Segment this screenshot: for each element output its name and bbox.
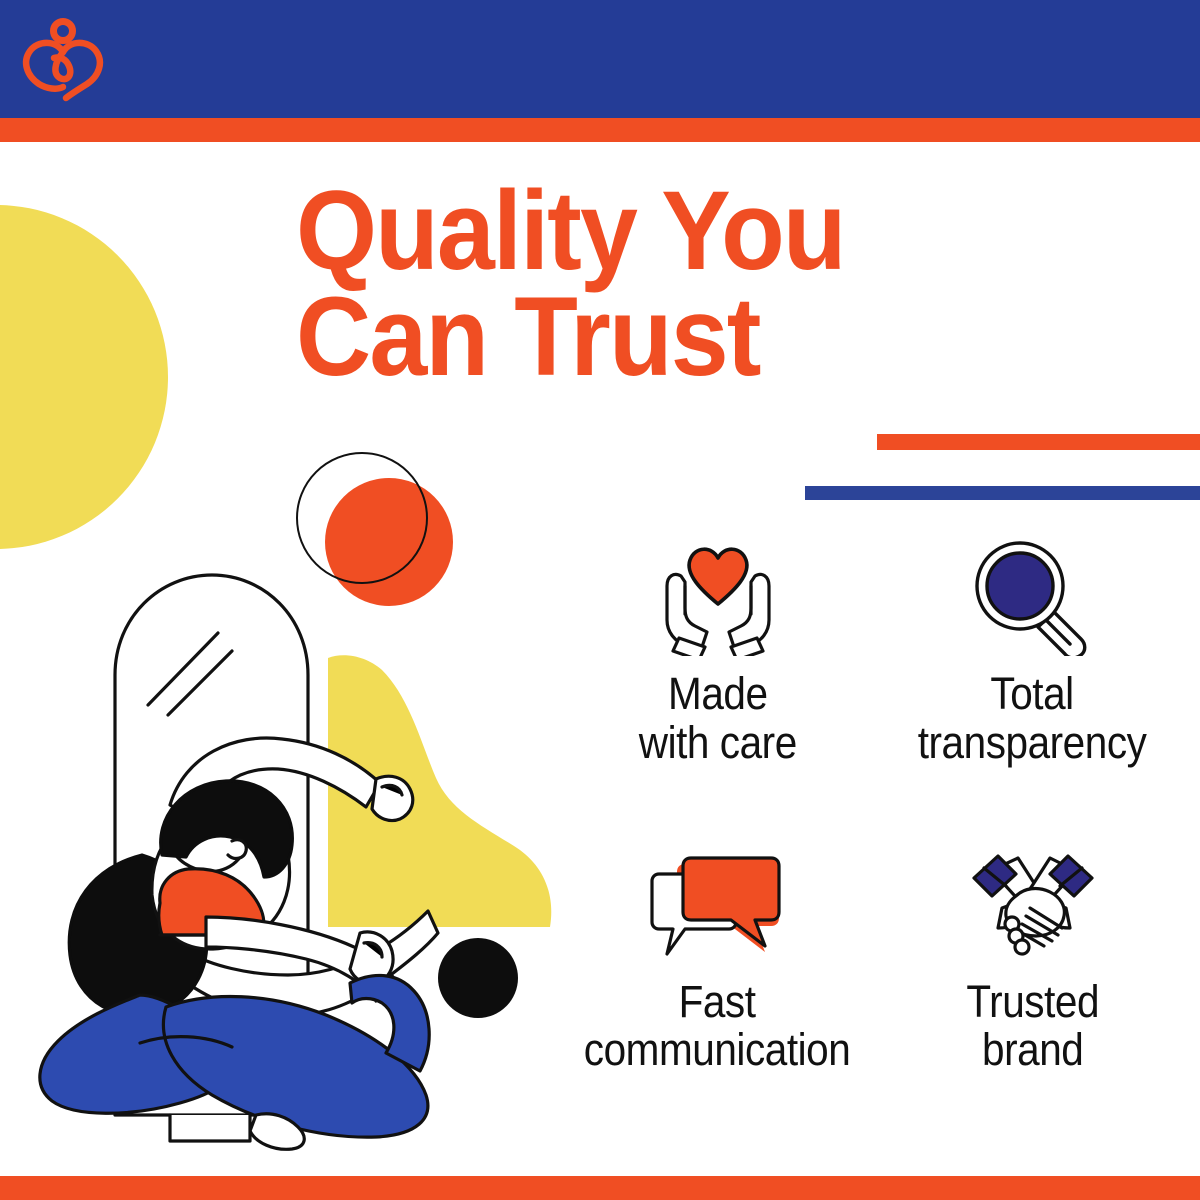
magnifying-glass-icon: [958, 528, 1108, 656]
feature-item-trusted-brand[interactable]: Trusted brand: [875, 836, 1190, 1144]
feature-item-total-transparency[interactable]: Total transparency: [875, 528, 1190, 836]
header-orange-rule: [0, 118, 1200, 142]
poster-canvas: Quality You Can Trust: [0, 0, 1200, 1200]
yellow-circle-decoration: [0, 205, 168, 549]
feature-item-made-with-care[interactable]: Made with care: [560, 528, 875, 836]
feature-item-fast-communication[interactable]: Fast communication: [560, 836, 875, 1144]
feature-label: Made with care: [638, 670, 796, 767]
accent-bar-orange: [877, 434, 1200, 450]
feature-label: Fast communication: [584, 978, 851, 1075]
hands-holding-heart-icon: [643, 528, 793, 656]
header-bar: [0, 0, 1200, 118]
handshake-icon: [958, 836, 1108, 964]
speech-bubbles-icon: [643, 836, 793, 964]
woman-stretching-illustration: [20, 555, 540, 1165]
footer-orange-rule: [0, 1176, 1200, 1200]
feature-label: Trusted brand: [966, 978, 1099, 1075]
heart-figure-logo[interactable]: [16, 18, 112, 102]
accent-bar-blue: [805, 486, 1200, 500]
feature-label: Total transparency: [918, 670, 1147, 767]
page-title: Quality You Can Trust: [296, 178, 891, 391]
feature-grid: Made with care Total transparency: [560, 528, 1190, 1143]
